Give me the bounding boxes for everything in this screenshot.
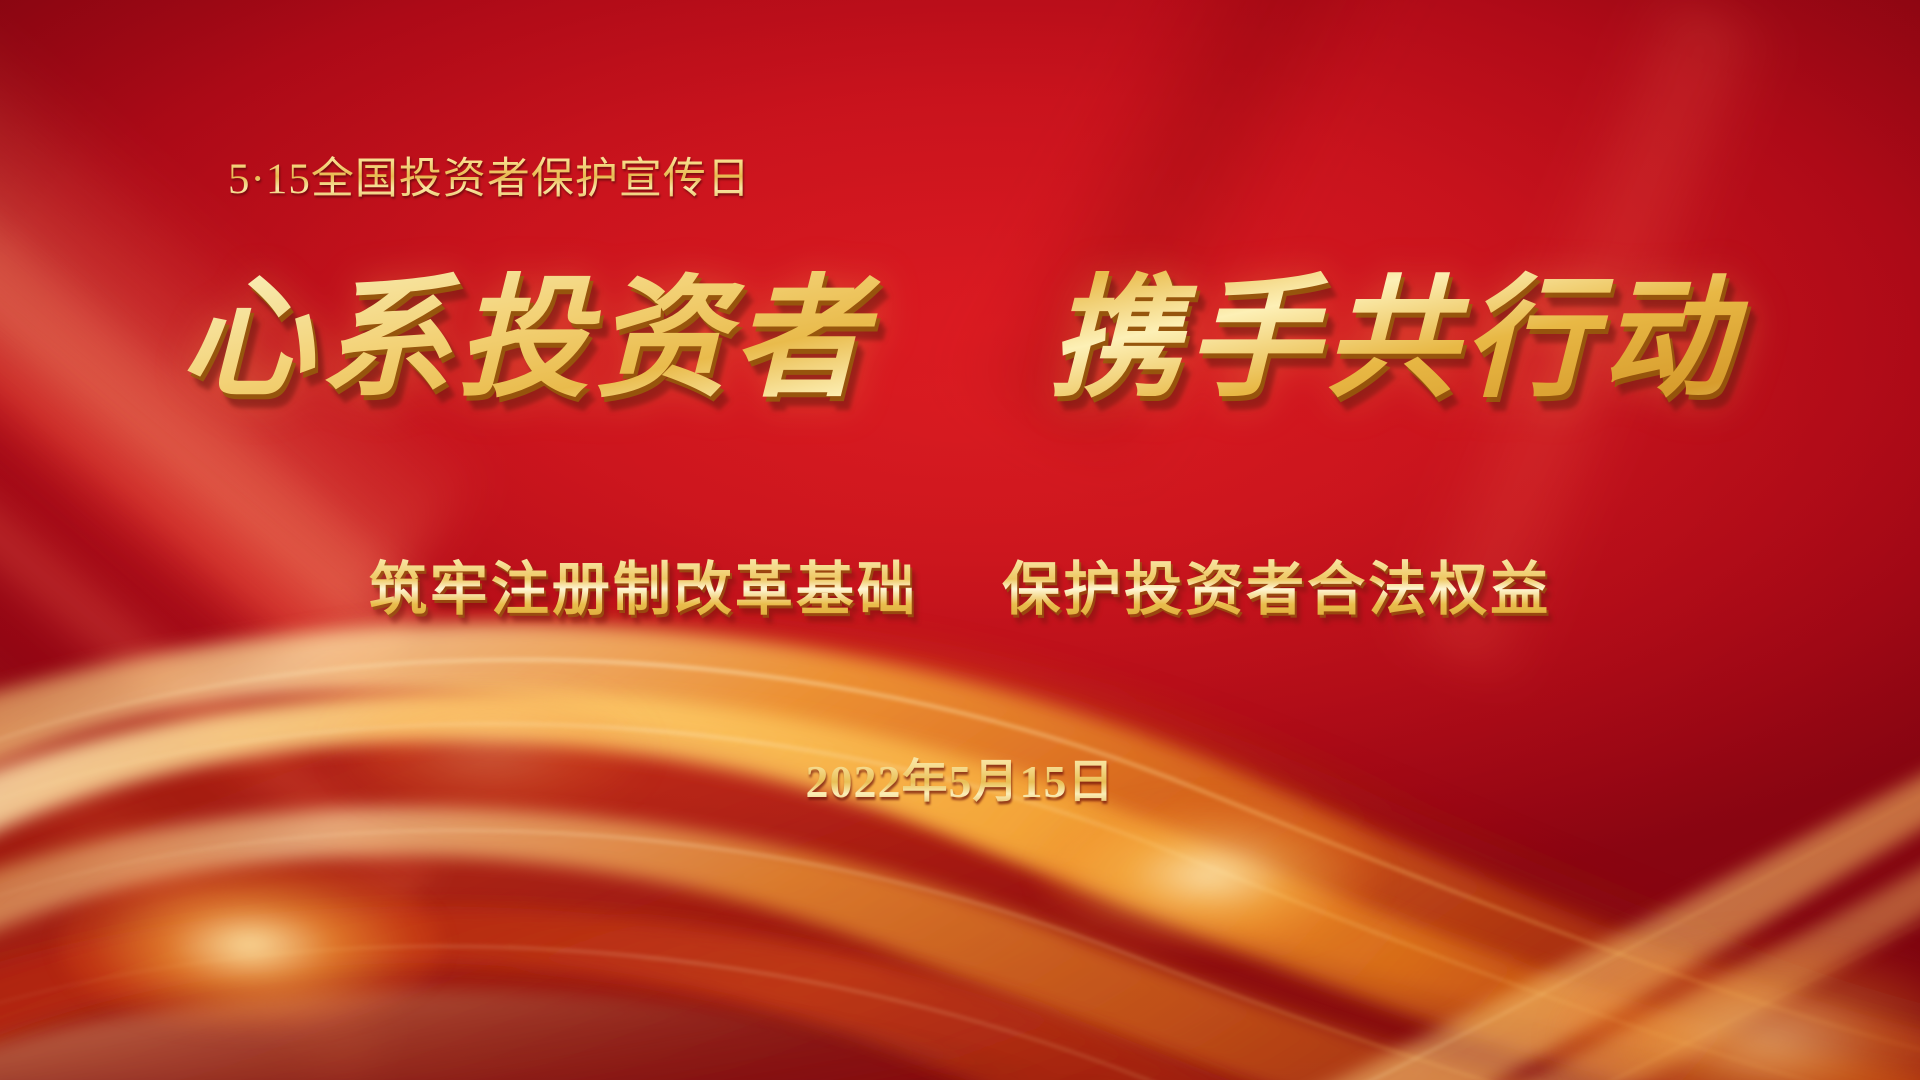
poster-canvas: 5·15全国投资者保护宣传日 心系投资者 携手共行动 筑牢注册制改革基础 保护投… — [0, 0, 1920, 1080]
subtitle-phrase-2: 保护投资者合法权益 — [1002, 557, 1551, 622]
headline-phrase-2: 携手共行动 — [1049, 261, 1739, 416]
campaign-eyebrow-label: 5·15全国投资者保护宣传日 — [228, 144, 751, 206]
subtitle-phrase-1: 筑牢注册制改革基础 — [369, 557, 918, 622]
poster-content: 5·15全国投资者保护宣传日 心系投资者 携手共行动 筑牢注册制改革基础 保护投… — [0, 0, 1920, 1080]
poster-subtitle: 筑牢注册制改革基础 保护投资者合法权益 — [0, 542, 1920, 626]
poster-headline: 心系投资者 携手共行动 — [0, 258, 1920, 419]
event-date-label: 2022年5月15日 — [0, 745, 1920, 811]
headline-phrase-1: 心系投资者 — [181, 261, 871, 416]
